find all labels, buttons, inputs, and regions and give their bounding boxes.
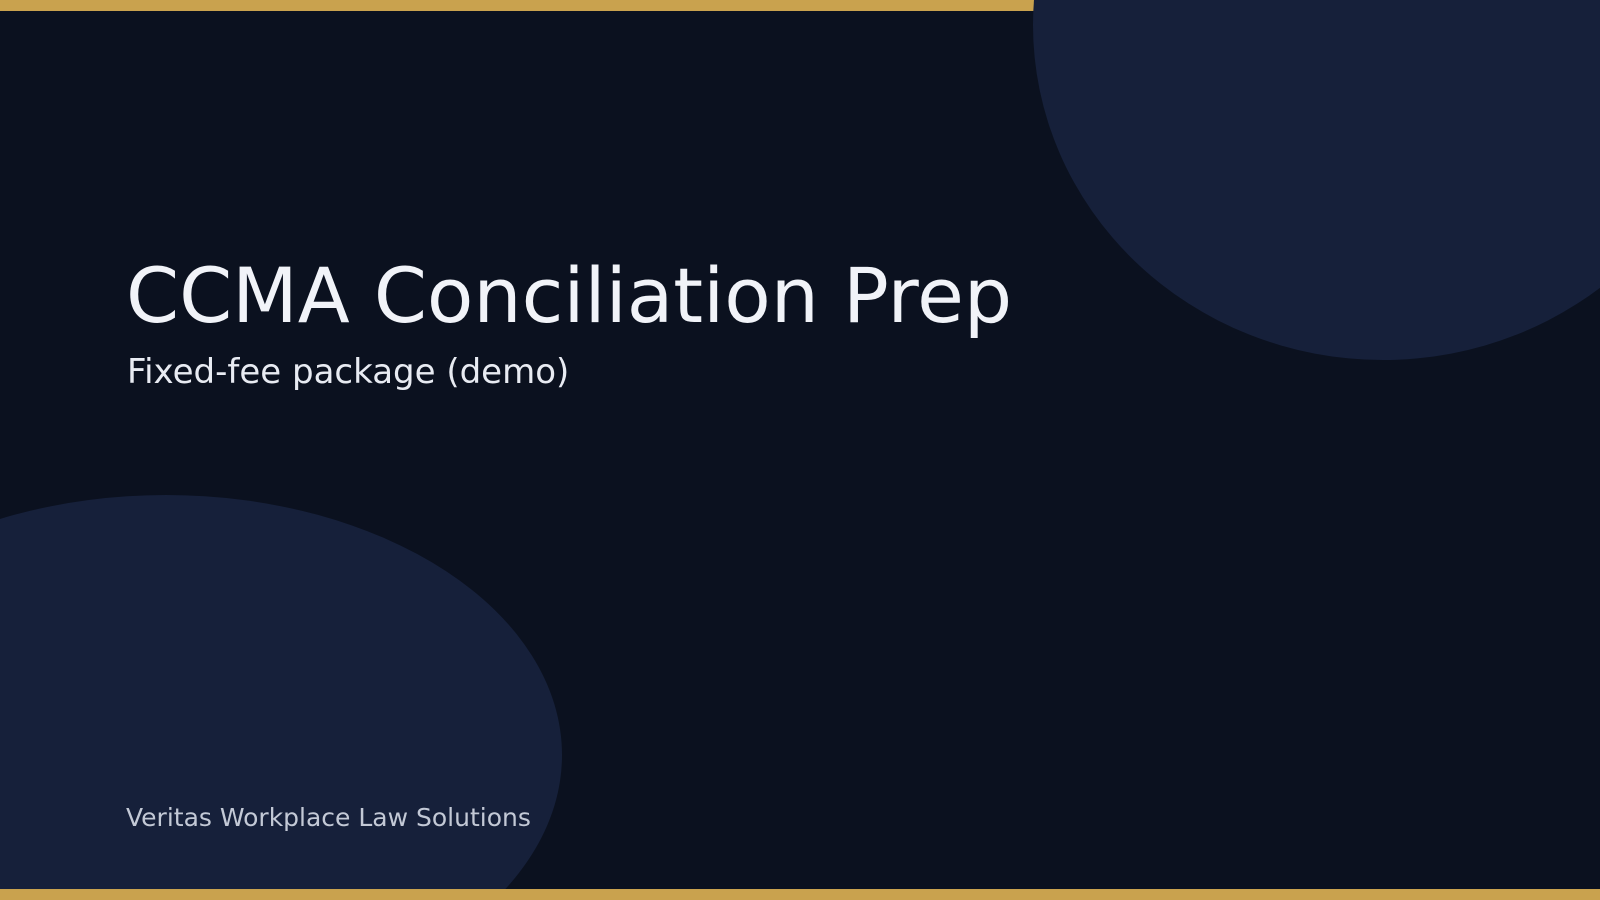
title-slide: CCMA Conciliation Prep Fixed-fee package… <box>0 0 1600 900</box>
slide-title: CCMA Conciliation Prep <box>126 258 1012 334</box>
slide-footer-organization: Veritas Workplace Law Solutions <box>126 805 531 830</box>
slide-content: CCMA Conciliation Prep Fixed-fee package… <box>126 0 1466 900</box>
slide-subtitle: Fixed-fee package (demo) <box>127 355 569 389</box>
